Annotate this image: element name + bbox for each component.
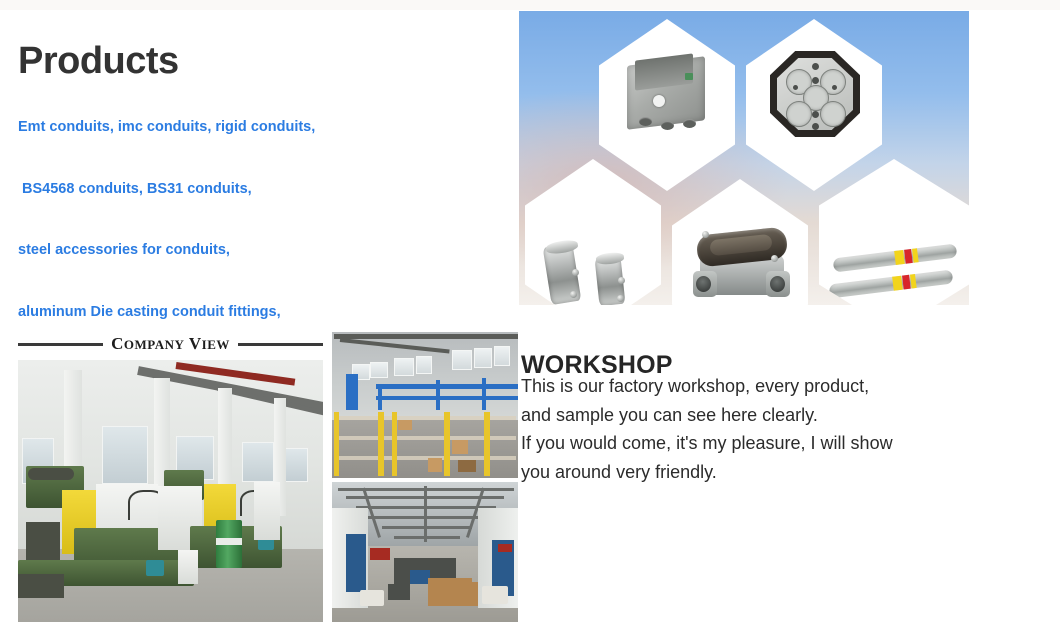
product-page: Products Emt conduits, imc conduits, rig… xyxy=(0,0,1060,636)
knockout xyxy=(639,117,652,126)
rack-post xyxy=(334,412,339,476)
cover-screw xyxy=(771,255,778,262)
rack-post xyxy=(392,412,397,476)
product-category-line: BS4568 conduits, BS31 conduits, xyxy=(18,179,315,200)
conduit-pipe-lower xyxy=(829,269,954,298)
set-screw xyxy=(618,277,625,284)
knockout xyxy=(820,101,846,127)
carton xyxy=(452,440,468,454)
roof-rib xyxy=(394,536,460,539)
rivet xyxy=(812,111,819,118)
mezzanine-rail xyxy=(376,396,518,400)
banner-rule-right xyxy=(238,343,323,346)
workshop-line: you around very friendly. xyxy=(521,458,1041,487)
ground-tab xyxy=(685,73,693,80)
knockout xyxy=(683,119,696,128)
rack-post xyxy=(444,412,450,476)
factory-floor-photo xyxy=(18,360,323,622)
left-doorway xyxy=(346,534,366,592)
mezzanine-rail xyxy=(376,384,518,389)
floor-grate xyxy=(18,574,64,598)
window xyxy=(102,426,148,484)
machine-panel-white xyxy=(254,482,280,540)
rivet xyxy=(812,123,819,130)
pallet xyxy=(388,584,410,600)
top-border-strip xyxy=(0,0,1060,10)
company-view-block: COMPANY VIEW xyxy=(18,330,323,622)
warehouse-racking-photo xyxy=(332,332,518,478)
window xyxy=(242,442,274,482)
red-sign xyxy=(370,548,390,560)
carton xyxy=(398,420,412,430)
roof-rib xyxy=(382,526,472,529)
rail-post xyxy=(482,378,486,410)
carton xyxy=(458,460,476,472)
set-screw xyxy=(617,295,624,302)
floor-crate xyxy=(178,550,198,584)
rack-post xyxy=(484,412,490,476)
blue-cabinet xyxy=(346,374,358,410)
rivet xyxy=(812,77,819,84)
conduit-pipe-upper xyxy=(833,243,958,272)
window xyxy=(370,362,388,378)
window xyxy=(416,356,432,374)
knockout xyxy=(786,101,812,127)
roof-truss xyxy=(334,334,518,339)
rivet xyxy=(793,85,798,90)
workshop-line: and sample you can see here clearly. xyxy=(521,401,1041,430)
knockout xyxy=(661,121,674,130)
company-view-title: COMPANY VIEW xyxy=(111,334,230,354)
drum-band xyxy=(216,538,242,545)
warehouse-floor xyxy=(332,420,518,478)
rail-post xyxy=(436,380,440,410)
set-screw xyxy=(572,269,579,276)
red-sign xyxy=(498,544,512,552)
window xyxy=(452,350,472,370)
center-hole xyxy=(653,95,665,107)
banner-rule-left xyxy=(18,343,103,346)
sack-pile xyxy=(360,590,384,606)
lb-hub-opening xyxy=(696,276,711,292)
rivet xyxy=(812,63,819,70)
carton xyxy=(428,458,442,472)
sack-pile xyxy=(482,586,508,604)
machine-cylinder xyxy=(28,468,74,480)
window xyxy=(494,346,510,366)
warehouse-corridor-photo xyxy=(332,482,518,622)
rack-post xyxy=(378,412,384,476)
workshop-line: If you would come, it's my pleasure, I w… xyxy=(521,429,1041,458)
rivet xyxy=(832,85,837,90)
window xyxy=(284,448,308,482)
product-category-line: aluminum Die casting conduit fittings, xyxy=(18,302,315,323)
product-collage-image xyxy=(519,11,969,305)
motor-teal xyxy=(146,560,164,576)
rail-post xyxy=(378,384,382,410)
window xyxy=(474,348,492,368)
product-category-line: Emt conduits, imc conduits, rigid condui… xyxy=(18,117,315,138)
company-view-banner: COMPANY VIEW xyxy=(18,330,323,358)
cover-screw xyxy=(702,231,709,238)
set-screw xyxy=(570,291,577,298)
carton-stack xyxy=(462,582,478,606)
lb-hub-opening xyxy=(770,276,785,292)
product-category-line: steel accessories for conduits, xyxy=(18,240,315,261)
workshop-line: This is our factory workshop, every prod… xyxy=(521,372,1041,401)
workshop-description: This is our factory workshop, every prod… xyxy=(521,372,1041,486)
roof-purlin xyxy=(424,486,427,542)
window xyxy=(394,358,414,376)
far-crate xyxy=(410,570,430,584)
